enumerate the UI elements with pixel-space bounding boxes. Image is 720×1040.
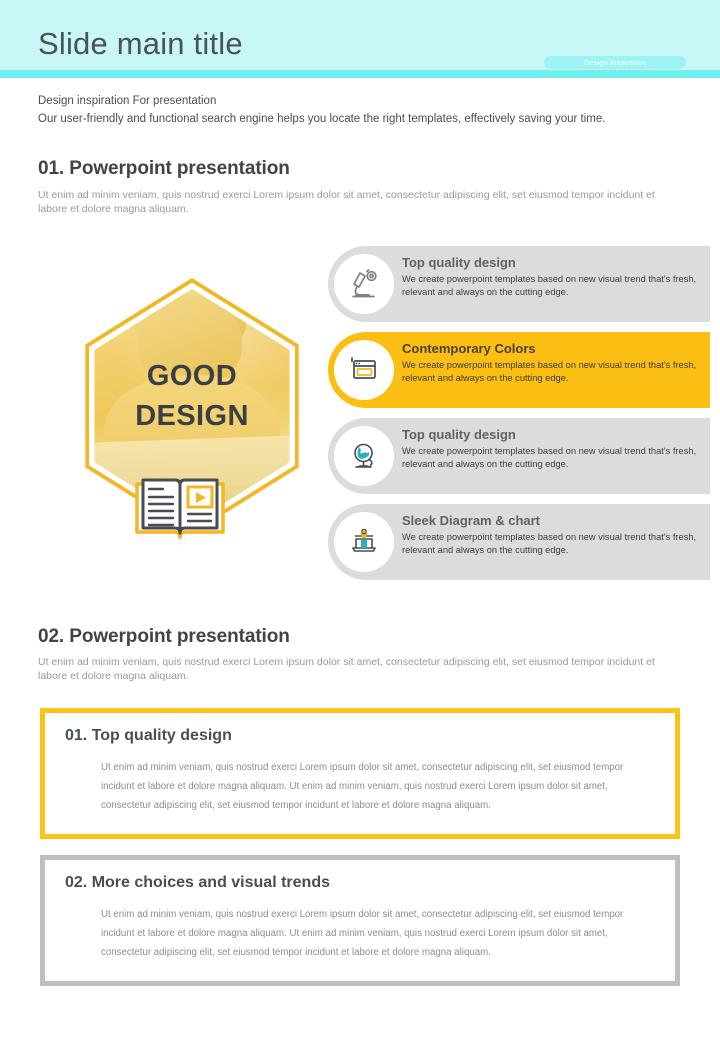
info-box[interactable]: 01. Top quality design Ut enim ad minim …: [40, 708, 680, 839]
info-box-body: Ut enim ad minim veniam, quis nostrud ex…: [101, 905, 657, 962]
info-box-body: Ut enim ad minim veniam, quis nostrud ex…: [101, 758, 657, 815]
feature-row[interactable]: Top quality design We create powerpoint …: [328, 246, 710, 322]
microscope-icon: [334, 254, 394, 314]
feature-text: Sleek Diagram & chart We create powerpoi…: [402, 512, 702, 556]
info-box[interactable]: 02. More choices and visual trends Ut en…: [40, 855, 680, 986]
feature-description: We create powerpoint templates based on …: [402, 445, 702, 470]
info-box-title: 02. More choices and visual trends: [65, 874, 330, 892]
feature-description: We create powerpoint templates based on …: [402, 531, 702, 556]
intro-line-2: Our user-friendly and functional search …: [38, 111, 702, 127]
browser-window-icon: [334, 340, 394, 400]
feature-title: Contemporary Colors: [402, 340, 702, 358]
laptop-award-icon: [334, 512, 394, 572]
feature-row[interactable]: Sleek Diagram & chart We create powerpoi…: [328, 504, 710, 580]
slide-header: Slide main title Design inspiration: [0, 0, 720, 78]
header-accent-stripe: [0, 70, 720, 78]
hexagon-label-line-1: GOOD: [76, 356, 308, 396]
feature-title: Top quality design: [402, 254, 702, 272]
feature-text: Contemporary Colors We create powerpoint…: [402, 340, 702, 384]
feature-row[interactable]: Contemporary Colors We create powerpoint…: [328, 332, 710, 408]
feature-title: Sleek Diagram & chart: [402, 512, 702, 530]
section-two-description: Ut enim ad minim veniam, quis nostrud ex…: [38, 655, 678, 683]
section-two-heading: 02. Powerpoint presentation: [38, 626, 290, 648]
intro-block: Design inspiration For presentation Our …: [38, 93, 702, 127]
feature-row[interactable]: Top quality design We create powerpoint …: [328, 418, 710, 494]
status-badge: Design inspiration: [544, 56, 686, 69]
feature-description: We create powerpoint templates based on …: [402, 273, 702, 298]
hexagon-label: GOOD DESIGN: [76, 356, 308, 436]
globe-icon: [334, 426, 394, 486]
section-one-description: Ut enim ad minim veniam, quis nostrud ex…: [38, 188, 678, 216]
info-box-title: 01. Top quality design: [65, 727, 232, 745]
feature-description: We create powerpoint templates based on …: [402, 359, 702, 384]
page-title: Slide main title: [38, 26, 243, 62]
intro-line-1: Design inspiration For presentation: [38, 93, 702, 109]
feature-text: Top quality design We create powerpoint …: [402, 254, 702, 298]
feature-title: Top quality design: [402, 426, 702, 444]
feature-text: Top quality design We create powerpoint …: [402, 426, 702, 470]
hexagon-label-line-2: DESIGN: [76, 396, 308, 436]
section-one-heading: 01. Powerpoint presentation: [38, 158, 290, 180]
open-book-play-icon: [133, 478, 227, 544]
